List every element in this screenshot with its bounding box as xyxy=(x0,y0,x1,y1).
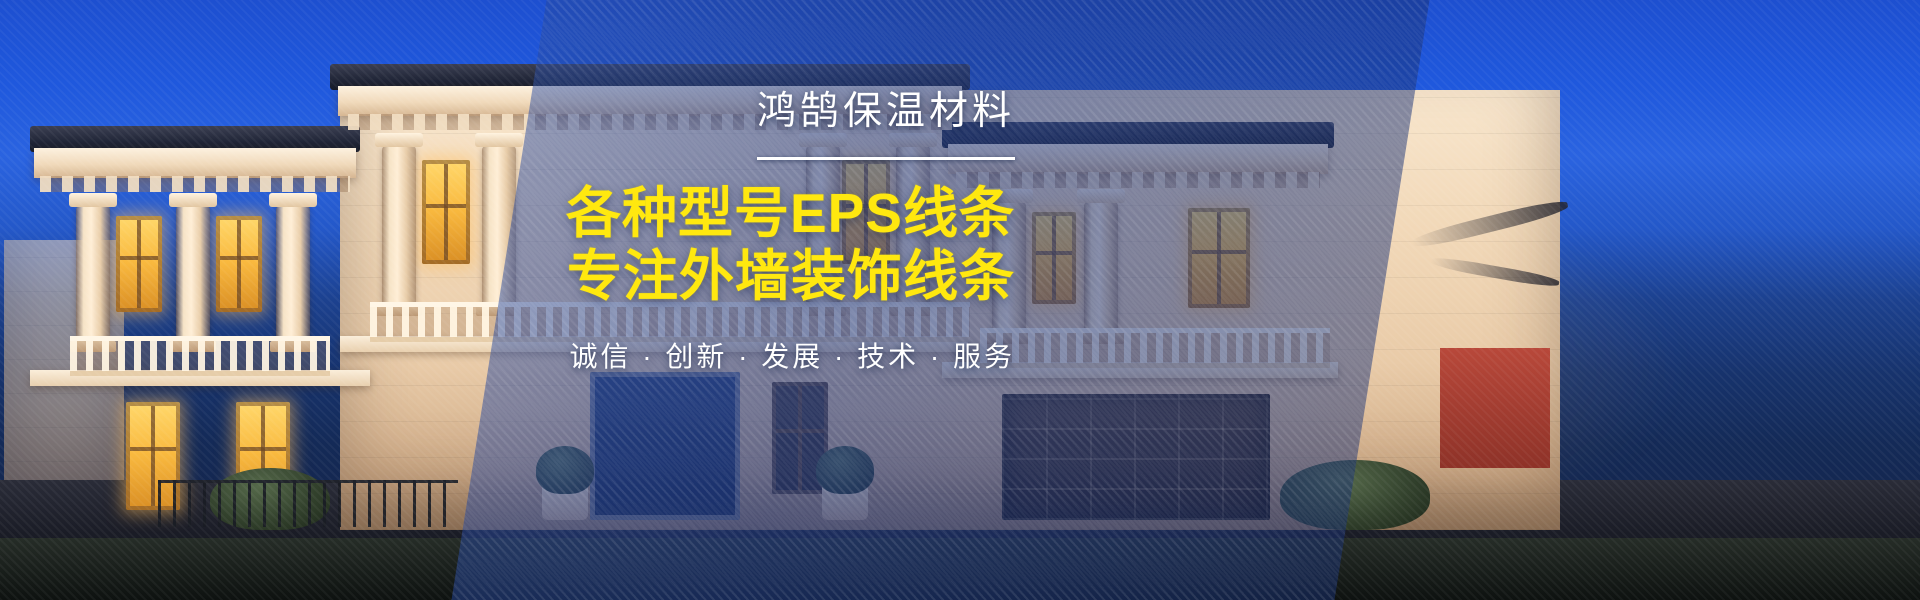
headline-line-1: 各种型号EPS线条 xyxy=(545,182,1015,245)
headline: 各种型号EPS线条 专注外墙装饰线条 xyxy=(545,182,1015,307)
column xyxy=(76,206,110,342)
column xyxy=(176,206,210,342)
headline-line-2: 专注外墙装饰线条 xyxy=(545,245,1015,308)
window-lit xyxy=(216,216,262,312)
window-lit xyxy=(116,216,162,312)
red-wall xyxy=(1440,348,1550,468)
brand-name: 鸿鹄保温材料 xyxy=(545,92,1015,133)
column xyxy=(276,206,310,342)
dentils-left xyxy=(40,176,350,192)
fence-railing xyxy=(158,480,458,527)
cornice-left xyxy=(34,148,356,178)
banner-copy: 鸿鹄保温材料 各种型号EPS线条 专注外墙装饰线条 诚信 · 创新 · 发展 ·… xyxy=(545,92,1015,375)
balustrade-left xyxy=(70,336,330,376)
tagline: 诚信 · 创新 · 发展 · 技术 · 服务 xyxy=(545,335,1015,375)
hero-banner: 鸿鹄保温材料 各种型号EPS线条 专注外墙装饰线条 诚信 · 创新 · 发展 ·… xyxy=(0,0,1920,600)
divider-rule xyxy=(757,157,1015,160)
column xyxy=(382,146,416,306)
window-lit xyxy=(422,160,470,264)
